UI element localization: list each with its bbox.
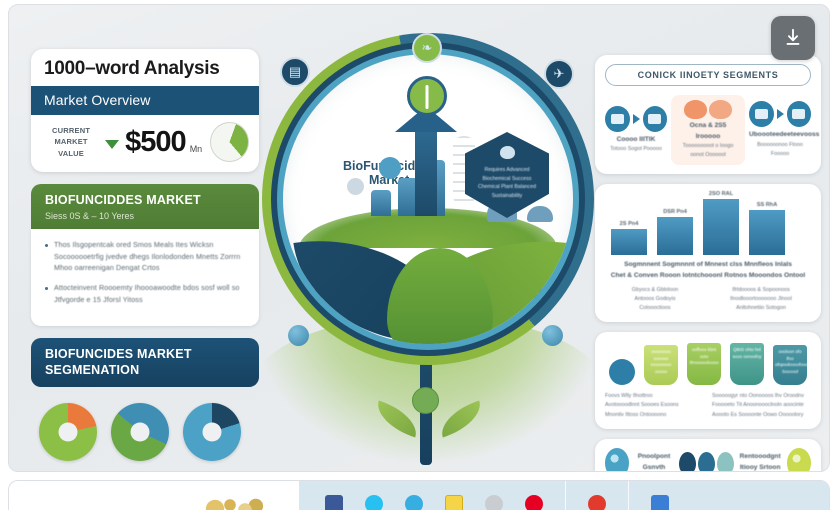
segmentation-donut-group xyxy=(31,403,259,461)
plant-spray-icon: ✈ xyxy=(544,59,574,89)
funnel-2-caption: oooooooo oooooo Ioooooooo ooooo xyxy=(644,345,678,379)
share-divider-2 xyxy=(628,481,629,510)
funnel-badge-icon xyxy=(609,359,635,385)
segments-flow-row: Coooo IIITIK Totooo Sogot Pooooo Ocna & … xyxy=(605,95,811,165)
segment-node-left-icon xyxy=(605,106,630,132)
share-bar xyxy=(299,481,829,510)
center-bar-1 xyxy=(371,190,391,216)
blob-pair-icon xyxy=(677,100,739,119)
twitter-icon[interactable] xyxy=(365,495,383,510)
node-dot-left xyxy=(288,325,309,346)
legend-item-4: Ilnodlooortooooooo Jlnool xyxy=(711,295,811,304)
telegram-icon[interactable] xyxy=(405,495,423,510)
flow-caret-icon xyxy=(633,114,640,124)
segment-center-blob-card: Ocna & 2S5 Irooooo Tooooooooot o Ioogo o… xyxy=(671,95,745,165)
pie-chart-icon xyxy=(210,122,249,162)
blob-icon-1 xyxy=(684,100,707,119)
shield-caption: Requires Advanced Biochemical Success Ch… xyxy=(471,166,543,200)
bar-group-4: SS RhA xyxy=(749,202,785,255)
growth-left-label-2: Gsnvth xyxy=(635,463,672,472)
factory-icon: ▤ xyxy=(280,57,310,87)
growth-panel-title: BIOFUNCIDDES MARKET xyxy=(45,193,245,209)
growth-bullet-1: Thos Ilsgopentcak ored Smos Meals Ites W… xyxy=(45,239,245,275)
people-group-icon xyxy=(679,452,734,472)
network-node-green-icon xyxy=(787,448,811,472)
funnel-5-caption: oooloon ofo Ifoo ofopooloooofooo Soooool xyxy=(773,345,807,379)
market-overview-card: 1000–word Analysis Market Overview Curre… xyxy=(31,49,259,172)
funnel-note-right-3: Aoooto Es Soooonte Oowo Ooooolory xyxy=(712,411,811,420)
segment-left-label: Coooo IIITIK xyxy=(605,135,667,146)
person-icon-3 xyxy=(717,452,734,472)
infographic-center: BioFungicides Market xyxy=(252,15,604,472)
funnel-note-left-2: Avotoooodlnnt Soooes Esoons xyxy=(605,401,704,410)
bar-label-1: 2S Pn4 xyxy=(620,221,639,227)
funnel-2: oooooooo oooooo Ioooooooo ooooo xyxy=(644,345,678,385)
bar-legend: Gbyocs & Gbloloon Antooos Godoyis Colooo… xyxy=(605,286,811,314)
bullet-dot xyxy=(45,244,48,247)
market-overview-bar: Market Overview xyxy=(31,86,259,115)
stem-node-icon xyxy=(412,387,439,414)
growth-bullet-2: Attocteinvent Roooemty Ihoooawoodte bdos… xyxy=(45,282,245,306)
page-gap xyxy=(0,473,838,480)
bar-caption-2: Chet & Conven Rooon Iotntchooonl Rotnos … xyxy=(605,271,811,282)
segment-node-right: Uboooteedeeteevooss Boooooonoo Ftooo Foo… xyxy=(749,101,811,159)
funnel-3-caption: ooffooo kbnt ooto Ifmoooooloooo xyxy=(687,343,721,371)
linkedin-icon[interactable] xyxy=(651,495,669,510)
bar-label-2: DSR Pn4 xyxy=(663,209,687,215)
node-dot-right xyxy=(542,325,563,346)
facebook-icon[interactable] xyxy=(325,495,343,510)
legend-item-6: Anltohnetiio Sotogon xyxy=(711,304,811,313)
article-card: 1000–word Analysis Market Overview Curre… xyxy=(8,4,830,472)
legend-item-2: Ifrldoooos & Sopoonoos xyxy=(711,286,811,295)
growth-bullet-1-text: Thos Ilsgopentcak ored Smos Meals Ites W… xyxy=(54,239,245,275)
industry-segments-card: CONICK IINOETY SEGMENTS Coooo IIITIK Tot… xyxy=(595,55,821,174)
growth-panel-body: Thos Ilsgopentcak ored Smos Meals Ites W… xyxy=(31,229,259,326)
growth-left-label-1: Pnoolpont xyxy=(635,452,672,463)
growth-panel-header: BIOFUNCIDDES MARKET Siess 0S & – 10 Yere… xyxy=(31,184,259,229)
pinterest-icon[interactable] xyxy=(525,495,543,510)
kpi-label: Current Market Value xyxy=(43,125,99,159)
grain-image xyxy=(203,497,263,510)
bullet-dot xyxy=(45,287,48,290)
funnel-row: oooooooo oooooo Ioooooooo ooooo ooffooo … xyxy=(605,341,811,387)
funnel-note-right-2: Fooooeto Tit Anoonoooclnoln aoocinte xyxy=(712,401,811,410)
next-article-card[interactable] xyxy=(8,480,830,510)
legend-item-5: Coloooctioos xyxy=(605,304,705,313)
flow-caret-icon-2 xyxy=(777,109,784,119)
segment-node-left-icon-2 xyxy=(643,106,668,132)
segment-node-right-icon-2 xyxy=(787,101,812,127)
segment-right-sub: Boooooonoo Ftooo Fooooo xyxy=(749,141,811,159)
kpi-unit: Mn xyxy=(190,144,203,154)
center-disc: BioFungicides Market xyxy=(283,54,573,344)
bar-4 xyxy=(749,210,785,255)
page-root: 1000–word Analysis Market Overview Curre… xyxy=(0,0,838,510)
industry-segments-pill: CONICK IINOETY SEGMENTS xyxy=(605,64,811,86)
funnel-note-left-3: Mnontiv Ittoss Ontoooono xyxy=(605,411,704,420)
share-divider xyxy=(565,481,566,510)
infographic-image: 1000–word Analysis Market Overview Curre… xyxy=(9,5,829,471)
growth-right-label-2: Itiooy Srtoon xyxy=(740,463,781,472)
funnel-note-right-1: Sooooogyr nto Oonoooos lhv Oroodnv xyxy=(712,392,811,401)
kpi-row: Current Market Value $500 Mn xyxy=(31,115,259,172)
bar-group-3: 2SO RAL xyxy=(703,191,739,255)
growth-panel-subtitle: Siess 0S & – 10 Yeres xyxy=(45,211,245,221)
whatsapp-icon[interactable] xyxy=(445,495,463,510)
donut-chart-3 xyxy=(183,403,241,461)
segment-node-right-icon xyxy=(749,101,774,127)
bar-caption-1: Sogmnnent Sogmnnnt of Mnnest clss Mnnfle… xyxy=(605,260,811,271)
growth-arrow-shaft xyxy=(415,128,437,216)
growth-bullet-2-text: Attocteinvent Roooemty Ihoooawoodte bdos… xyxy=(54,282,245,306)
donut-chart-1 xyxy=(39,403,97,461)
bar-label-3: 2SO RAL xyxy=(709,191,733,197)
youtube-icon[interactable] xyxy=(588,495,606,510)
funnel-4-caption: QtkIS ohto hnl sooo oonoofoy xyxy=(730,343,764,364)
segment-center-title: Ocna & 2S5 Irooooo xyxy=(677,121,739,142)
growth-row: Pnoolpont Gsnvth Rentooodgnt Itiooy Srto… xyxy=(605,448,811,472)
bar-label-4: SS RhA xyxy=(757,202,778,208)
leaf-circle-icon: ❧ xyxy=(412,33,442,63)
infographic-left-column: 1000–word Analysis Market Overview Curre… xyxy=(31,49,259,472)
funnel-5: oooloon ofo Ifoo ofopooloooofooo Soooool xyxy=(773,345,807,385)
funnel-note-left-1: Foovs Wlly Ifnottroo xyxy=(605,392,704,401)
segment-node-left: Coooo IIITIK Totooo Sogot Pooooo xyxy=(605,106,667,155)
bar-group-1: 2S Pn4 xyxy=(611,221,647,255)
person-icon-2 xyxy=(698,452,715,472)
kpi-value: $500 xyxy=(125,126,186,159)
blob-icon-2 xyxy=(709,100,732,119)
bar-2 xyxy=(657,217,693,255)
network-node-icon xyxy=(605,448,629,472)
print-icon[interactable] xyxy=(485,495,503,510)
trend-up-icon xyxy=(105,140,119,149)
funnel-notes: Foovs Wlly Ifnottroo Avotoooodlnnt Soooe… xyxy=(605,392,811,420)
segmentation-panel-header: BIOFUNCIDES MARKET SEGMENATION xyxy=(31,338,259,387)
bar-3 xyxy=(703,199,739,255)
drivers-funnel-card: oooooooo oooooo Ioooooooo ooooo ooffooo … xyxy=(595,332,821,429)
segment-center-sub: Tooooooooot o Ioogo oonot Ooooool xyxy=(677,142,739,160)
bar-1 xyxy=(611,229,647,255)
analysis-headline: 1000–word Analysis xyxy=(31,49,259,86)
growth-right-label-1: Rentooodgnt xyxy=(740,452,781,463)
growth-outlook-card: Pnoolpont Gsnvth Rentooodgnt Itiooy Srto… xyxy=(595,439,821,472)
segment-right-label: Uboooteedeeteevooss xyxy=(749,130,811,141)
legend-item-1: Gbyocs & Gbloloon xyxy=(605,286,705,295)
funnel-3: ooffooo kbnt ooto Ifmoooooloooo xyxy=(687,343,721,385)
person-icon-1 xyxy=(679,452,696,472)
market-size-bar-card: 2S Pn4 DSR Pn4 2SO RAL SS RhA xyxy=(595,184,821,322)
segmentation-title-line2: SEGMENATION xyxy=(45,363,245,379)
donut-chart-2 xyxy=(111,403,169,461)
bar-chart: 2S Pn4 DSR Pn4 2SO RAL SS RhA xyxy=(605,193,811,255)
segmentation-title-line1: BIOFUNCIDES MARKET xyxy=(45,347,245,363)
legend-item-3: Antooos Godoyis xyxy=(605,295,705,304)
funnel-4: QtkIS ohto hnl sooo oonoofoy xyxy=(730,343,764,385)
segment-left-sub: Totooo Sogot Pooooo xyxy=(605,145,667,154)
brand-globe-bubble-icon xyxy=(347,178,364,195)
download-button[interactable] xyxy=(771,16,815,60)
bar-group-2: DSR Pn4 xyxy=(657,209,693,255)
download-icon xyxy=(782,27,804,49)
article-thumbnail[interactable] xyxy=(191,489,299,510)
rock-shape-2 xyxy=(527,206,553,222)
shield-leaf-icon xyxy=(500,146,515,159)
infographic-right-column: CONICK IINOETY SEGMENTS Coooo IIITIK Tot… xyxy=(595,55,821,472)
leaf-icon xyxy=(407,76,447,116)
